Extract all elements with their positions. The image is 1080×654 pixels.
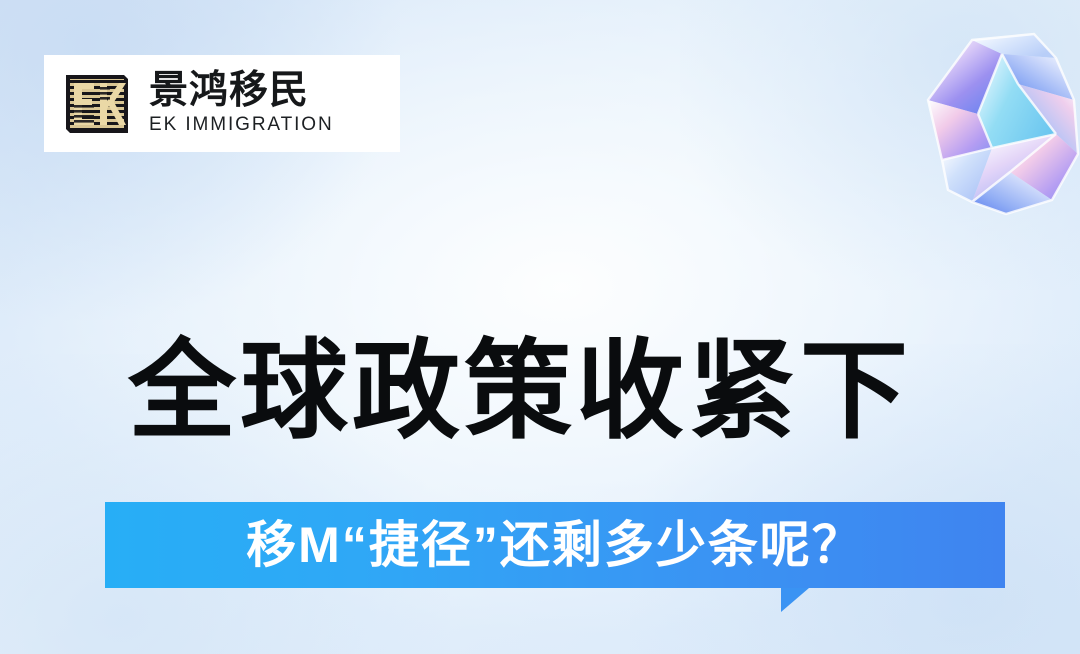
subtitle-banner-body: 移M“捷径”还剩多少条呢？ (105, 502, 1005, 588)
subtitle-text: 移M“捷径”还剩多少条呢？ (246, 520, 864, 570)
headline-title: 全球政策收紧下 (128, 332, 1008, 450)
background-vignette-top-right (680, 0, 1080, 290)
poster-canvas: 景鸿移民 EK IMMIGRATION 全球政策收紧下 移M“捷径”还剩多少条呢… (0, 0, 1080, 654)
speech-bubble-tail-icon (781, 588, 809, 612)
subtitle-banner: 移M“捷径”还剩多少条呢？ (105, 502, 1005, 588)
brand-name-chinese: 景鸿移民 (149, 71, 334, 111)
ek-monogram-icon (64, 71, 130, 137)
iridescent-polyhedron-icon (902, 8, 1080, 218)
brand-name-english: EK IMMIGRATION (149, 114, 334, 136)
background-vignette-top-left (0, 0, 400, 320)
brand-logo-plate[interactable]: 景鸿移民 EK IMMIGRATION (44, 55, 400, 152)
brand-wordmark: 景鸿移民 EK IMMIGRATION (149, 71, 334, 137)
